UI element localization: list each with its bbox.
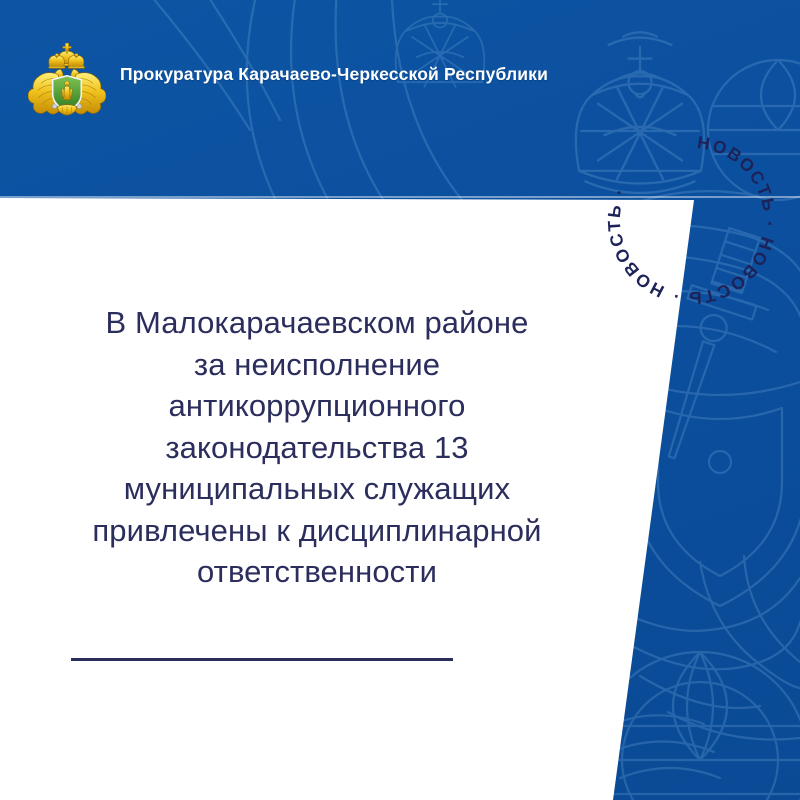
headline-line: привлечены к дисциплинарной (92, 513, 541, 548)
headline-line: муниципальных служащих (124, 471, 510, 506)
headline-line: В Малокарачаевском районе (106, 305, 529, 340)
organization-title: Прокуратура Карачаево-Черкесской Республ… (120, 64, 548, 85)
headline-line: ответственности (197, 554, 437, 589)
headline-line: за неисполнение (194, 347, 440, 382)
headline-line: антикоррупционного (169, 388, 466, 423)
header-divider (0, 196, 800, 198)
prosecutor-eagle-emblem-icon (28, 38, 106, 116)
headline-divider (71, 658, 453, 661)
headline-line: законодательства 13 (165, 430, 468, 465)
poster-header: Прокуратура Карачаево-Черкесской Республ… (0, 0, 800, 198)
page-title: В Малокарачаевском районе за неисполнени… (48, 302, 586, 593)
news-poster: Прокуратура Карачаево-Черкесской Республ… (0, 0, 800, 800)
